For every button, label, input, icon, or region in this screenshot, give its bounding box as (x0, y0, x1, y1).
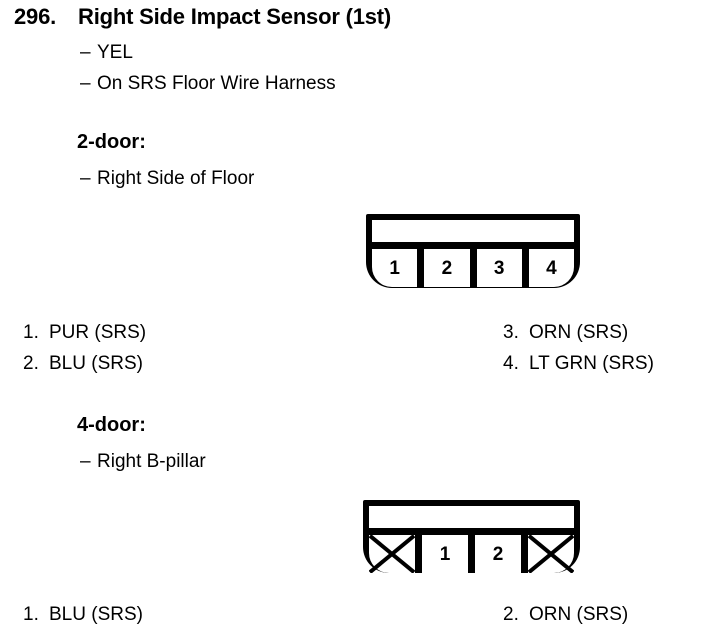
pin-number: 4. (503, 353, 529, 375)
connector-pin-label: 3 (494, 259, 505, 278)
pin-number: 1. (23, 322, 49, 344)
page-title: 296.Right Side Impact Sensor (1st) (14, 4, 391, 30)
entry-number: 296. (14, 4, 78, 30)
connector-cell-row: 1 2 (369, 535, 574, 573)
pin-list-item: 1.BLU (SRS) (23, 604, 143, 626)
connector-pin-cell: 1 (422, 535, 468, 573)
entry-title: Right Side Impact Sensor (1st) (78, 4, 391, 29)
connector-pin-label: 2 (442, 259, 453, 278)
connector-pin-cell: 1 (372, 249, 417, 287)
pin-wire-color: PUR (SRS) (49, 322, 146, 343)
pin-list-item: 1.PUR (SRS) (23, 322, 146, 344)
pin-list-item: 2.ORN (SRS) (503, 604, 628, 626)
pin-wire-color: LT GRN (SRS) (529, 353, 654, 374)
connector-pin-label: 1 (389, 259, 400, 278)
pin-number: 2. (23, 353, 49, 375)
cross-out-icon (369, 535, 415, 573)
location-text: Right B-pillar (97, 451, 206, 472)
entry-attribute-color: –YEL (80, 42, 133, 64)
entry-attribute-harness: –On SRS Floor Wire Harness (80, 73, 336, 95)
attribute-text: On SRS Floor Wire Harness (97, 73, 336, 94)
pin-list-item: 3.ORN (SRS) (503, 322, 628, 344)
pin-number: 2. (503, 604, 529, 626)
connector-blocked-cell (528, 535, 574, 573)
pin-wire-color: ORN (SRS) (529, 322, 628, 343)
pin-number: 1. (23, 604, 49, 626)
dash-bullet-icon: – (80, 42, 97, 64)
connector-blocked-cell (369, 535, 415, 573)
connector-diagram-4-door: 1 2 (363, 500, 580, 573)
connector-pin-cell: 2 (424, 249, 469, 287)
connector-pin-cell: 4 (529, 249, 574, 287)
dash-bullet-icon: – (80, 168, 97, 190)
connector-pin-cell: 2 (475, 535, 521, 573)
section-location-4-door: –Right B-pillar (80, 451, 206, 473)
attribute-text: YEL (97, 42, 133, 63)
connector-top-bar (369, 506, 574, 528)
pin-list-item: 4.LT GRN (SRS) (503, 353, 654, 375)
pin-wire-color: BLU (SRS) (49, 604, 143, 625)
section-location-2-door: –Right Side of Floor (80, 168, 254, 190)
connector-diagram-2-door: 1 2 3 4 (366, 214, 580, 288)
connector-pin-label: 1 (440, 545, 451, 564)
cross-out-icon (528, 535, 574, 573)
location-text: Right Side of Floor (97, 168, 254, 189)
dash-bullet-icon: – (80, 451, 97, 473)
section-heading-2-door: 2-door: (77, 131, 146, 154)
connector-top-bar (372, 220, 574, 242)
pin-list-item: 2.BLU (SRS) (23, 353, 143, 375)
connector-pin-label: 2 (493, 545, 504, 564)
connector-pin-label: 4 (546, 259, 557, 278)
connector-pin-cell: 3 (477, 249, 522, 287)
pin-wire-color: BLU (SRS) (49, 353, 143, 374)
connector-cell-row: 1 2 3 4 (372, 249, 574, 287)
dash-bullet-icon: – (80, 73, 97, 95)
section-heading-4-door: 4-door: (77, 414, 146, 437)
pin-number: 3. (503, 322, 529, 344)
pin-wire-color: ORN (SRS) (529, 604, 628, 625)
